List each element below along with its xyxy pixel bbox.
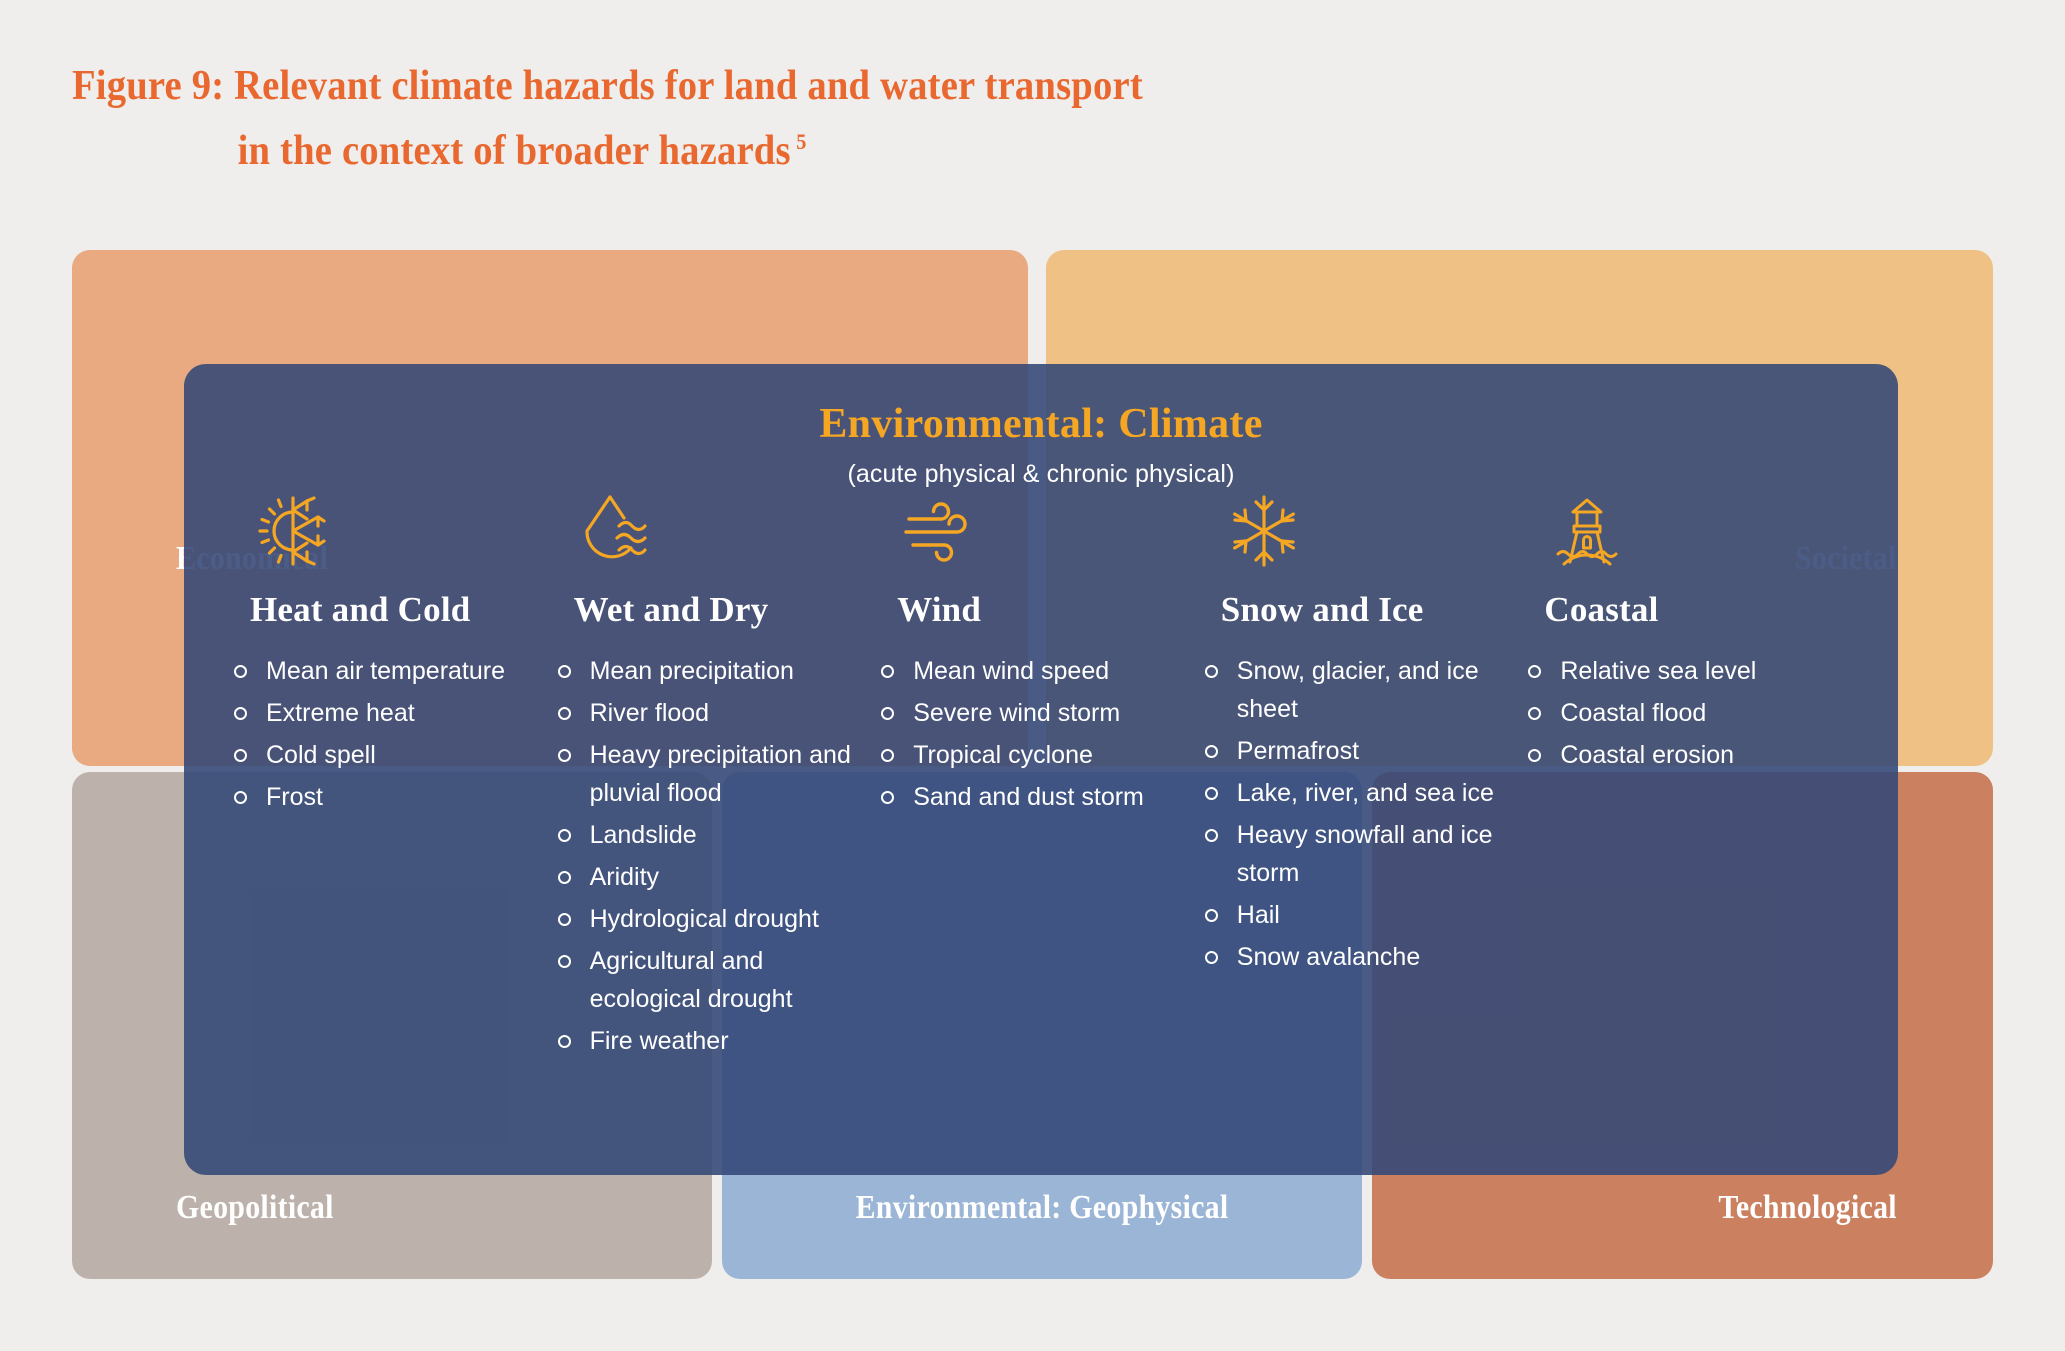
- hazard-item-label: Extreme heat: [266, 699, 415, 727]
- hazard-column-wet-and-dry: Wet and Dry Mean precipitationRiver floo…: [556, 482, 880, 1064]
- hazard-item-label: Fire weather: [590, 1027, 729, 1055]
- bullet-circle-icon: [1205, 745, 1218, 758]
- hazard-item: Cold spell: [232, 736, 538, 774]
- hazard-item: Mean wind speed: [879, 652, 1185, 690]
- hazard-item: Snow avalanche: [1203, 938, 1509, 976]
- context-label-technological: Technological: [1718, 1189, 1897, 1227]
- hazard-columns: Heat and Cold Mean air temperatureExtrem…: [184, 482, 1898, 1064]
- bullet-circle-icon: [1528, 665, 1541, 678]
- context-label-geophysical: Environmental: Geophysical: [856, 1189, 1229, 1227]
- hazard-item-label: Mean precipitation: [590, 657, 794, 685]
- bullet-circle-icon: [881, 707, 894, 720]
- hazard-item-label: Snow avalanche: [1237, 943, 1420, 971]
- hazard-item-label: Landslide: [590, 821, 697, 849]
- hazard-item: Coastal erosion: [1526, 736, 1832, 774]
- climate-panel: Environmental: Climate (acute physical &…: [184, 364, 1898, 1175]
- hazard-column-snow-and-ice: Snow and Ice Snow, glacier, and ice shee…: [1203, 482, 1527, 1064]
- hazard-item: Extreme heat: [232, 694, 538, 732]
- hazard-item-label: Tropical cyclone: [913, 741, 1093, 769]
- hazard-item-label: Mean wind speed: [913, 657, 1109, 685]
- hazard-item: Aridity: [556, 858, 862, 896]
- hazard-item-label: Cold spell: [266, 741, 376, 769]
- climate-panel-title: Environmental: Climate: [184, 364, 1898, 448]
- hazard-item: River flood: [556, 694, 862, 732]
- hazard-item: Coastal flood: [1526, 694, 1832, 732]
- bullet-circle-icon: [1205, 665, 1218, 678]
- hazard-item: Agricultural and ecological drought: [556, 942, 862, 1018]
- hazard-item: Mean precipitation: [556, 652, 862, 690]
- hazard-item-label: Hail: [1237, 901, 1280, 929]
- hazard-heading: Heat and Cold: [232, 590, 538, 630]
- wind-icon: [879, 482, 1185, 574]
- hazard-heading: Snow and Ice: [1203, 590, 1509, 630]
- hazard-item: Mean air temperature: [232, 652, 538, 690]
- hazard-item: Sand and dust storm: [879, 778, 1185, 816]
- hazard-item-list: Mean air temperatureExtreme heatCold spe…: [232, 652, 538, 816]
- hazard-item-list: Relative sea levelCoastal floodCoastal e…: [1526, 652, 1832, 774]
- bullet-circle-icon: [1205, 951, 1218, 964]
- hazard-item: Relative sea level: [1526, 652, 1832, 690]
- bullet-circle-icon: [558, 1035, 571, 1048]
- hazard-heading: Wind: [879, 590, 1185, 630]
- hazard-item: Hail: [1203, 896, 1509, 934]
- hazard-item: Landslide: [556, 816, 862, 854]
- hazard-column-heat-and-cold: Heat and Cold Mean air temperatureExtrem…: [232, 482, 556, 1064]
- hazard-item-list: Snow, glacier, and ice sheetPermafrostLa…: [1203, 652, 1509, 976]
- bullet-circle-icon: [1528, 707, 1541, 720]
- bullet-circle-icon: [558, 749, 571, 762]
- bullet-circle-icon: [1528, 749, 1541, 762]
- hazard-item-label: Heavy precipitation and pluvial flood: [590, 741, 851, 807]
- hazard-diagram: Economical Societal Geopolitical Environ…: [0, 0, 2065, 1351]
- bullet-circle-icon: [558, 829, 571, 842]
- bullet-circle-icon: [234, 791, 247, 804]
- hazard-item-label: Frost: [266, 783, 323, 811]
- sun-snowflake-icon: [232, 482, 538, 574]
- hazard-item: Tropical cyclone: [879, 736, 1185, 774]
- bullet-circle-icon: [1205, 909, 1218, 922]
- hazard-item: Lake, river, and sea ice: [1203, 774, 1509, 812]
- hazard-item: Snow, glacier, and ice sheet: [1203, 652, 1509, 728]
- hazard-item: Permafrost: [1203, 732, 1509, 770]
- hazard-item-label: Sand and dust storm: [913, 783, 1144, 811]
- hazard-item: Frost: [232, 778, 538, 816]
- hazard-item-label: Relative sea level: [1560, 657, 1756, 685]
- hazard-column-coastal: Coastal Relative sea levelCoastal floodC…: [1526, 482, 1850, 1064]
- hazard-item-label: Snow, glacier, and ice sheet: [1237, 657, 1479, 723]
- bullet-circle-icon: [558, 665, 571, 678]
- bullet-circle-icon: [558, 871, 571, 884]
- context-label-geopolitical: Geopolitical: [176, 1189, 334, 1227]
- hazard-item: Fire weather: [556, 1022, 862, 1060]
- bullet-circle-icon: [234, 749, 247, 762]
- bullet-circle-icon: [881, 665, 894, 678]
- hazard-item-label: Aridity: [590, 863, 659, 891]
- bullet-circle-icon: [1205, 829, 1218, 842]
- hazard-item-label: Mean air temperature: [266, 657, 505, 685]
- bullet-circle-icon: [558, 707, 571, 720]
- hazard-item-label: Lake, river, and sea ice: [1237, 779, 1494, 807]
- hazard-item-label: River flood: [590, 699, 710, 727]
- hazard-item-label: Coastal flood: [1560, 699, 1706, 727]
- water-droplet-icon: [556, 482, 862, 574]
- hazard-item-label: Coastal erosion: [1560, 741, 1734, 769]
- bullet-circle-icon: [1205, 787, 1218, 800]
- hazard-item-list: Mean wind speedSevere wind stormTropical…: [879, 652, 1185, 816]
- hazard-column-wind: Wind Mean wind speedSevere wind stormTro…: [879, 482, 1203, 1064]
- hazard-item-label: Agricultural and ecological drought: [590, 947, 793, 1013]
- snowflake-icon: [1203, 482, 1509, 574]
- bullet-circle-icon: [881, 749, 894, 762]
- hazard-item-list: Mean precipitationRiver floodHeavy preci…: [556, 652, 862, 1060]
- hazard-item: Hydrological drought: [556, 900, 862, 938]
- hazard-item-label: Permafrost: [1237, 737, 1359, 765]
- bullet-circle-icon: [558, 955, 571, 968]
- hazard-item-label: Hydrological drought: [590, 905, 819, 933]
- bullet-circle-icon: [234, 665, 247, 678]
- bullet-circle-icon: [234, 707, 247, 720]
- hazard-item: Heavy precipitation and pluvial flood: [556, 736, 862, 812]
- lighthouse-icon: [1526, 482, 1832, 574]
- hazard-item: Heavy snowfall and ice storm: [1203, 816, 1509, 892]
- hazard-heading: Coastal: [1526, 590, 1832, 630]
- bullet-circle-icon: [881, 791, 894, 804]
- hazard-item-label: Severe wind storm: [913, 699, 1120, 727]
- hazard-item: Severe wind storm: [879, 694, 1185, 732]
- bullet-circle-icon: [558, 913, 571, 926]
- hazard-item-label: Heavy snowfall and ice storm: [1237, 821, 1493, 887]
- hazard-heading: Wet and Dry: [556, 590, 862, 630]
